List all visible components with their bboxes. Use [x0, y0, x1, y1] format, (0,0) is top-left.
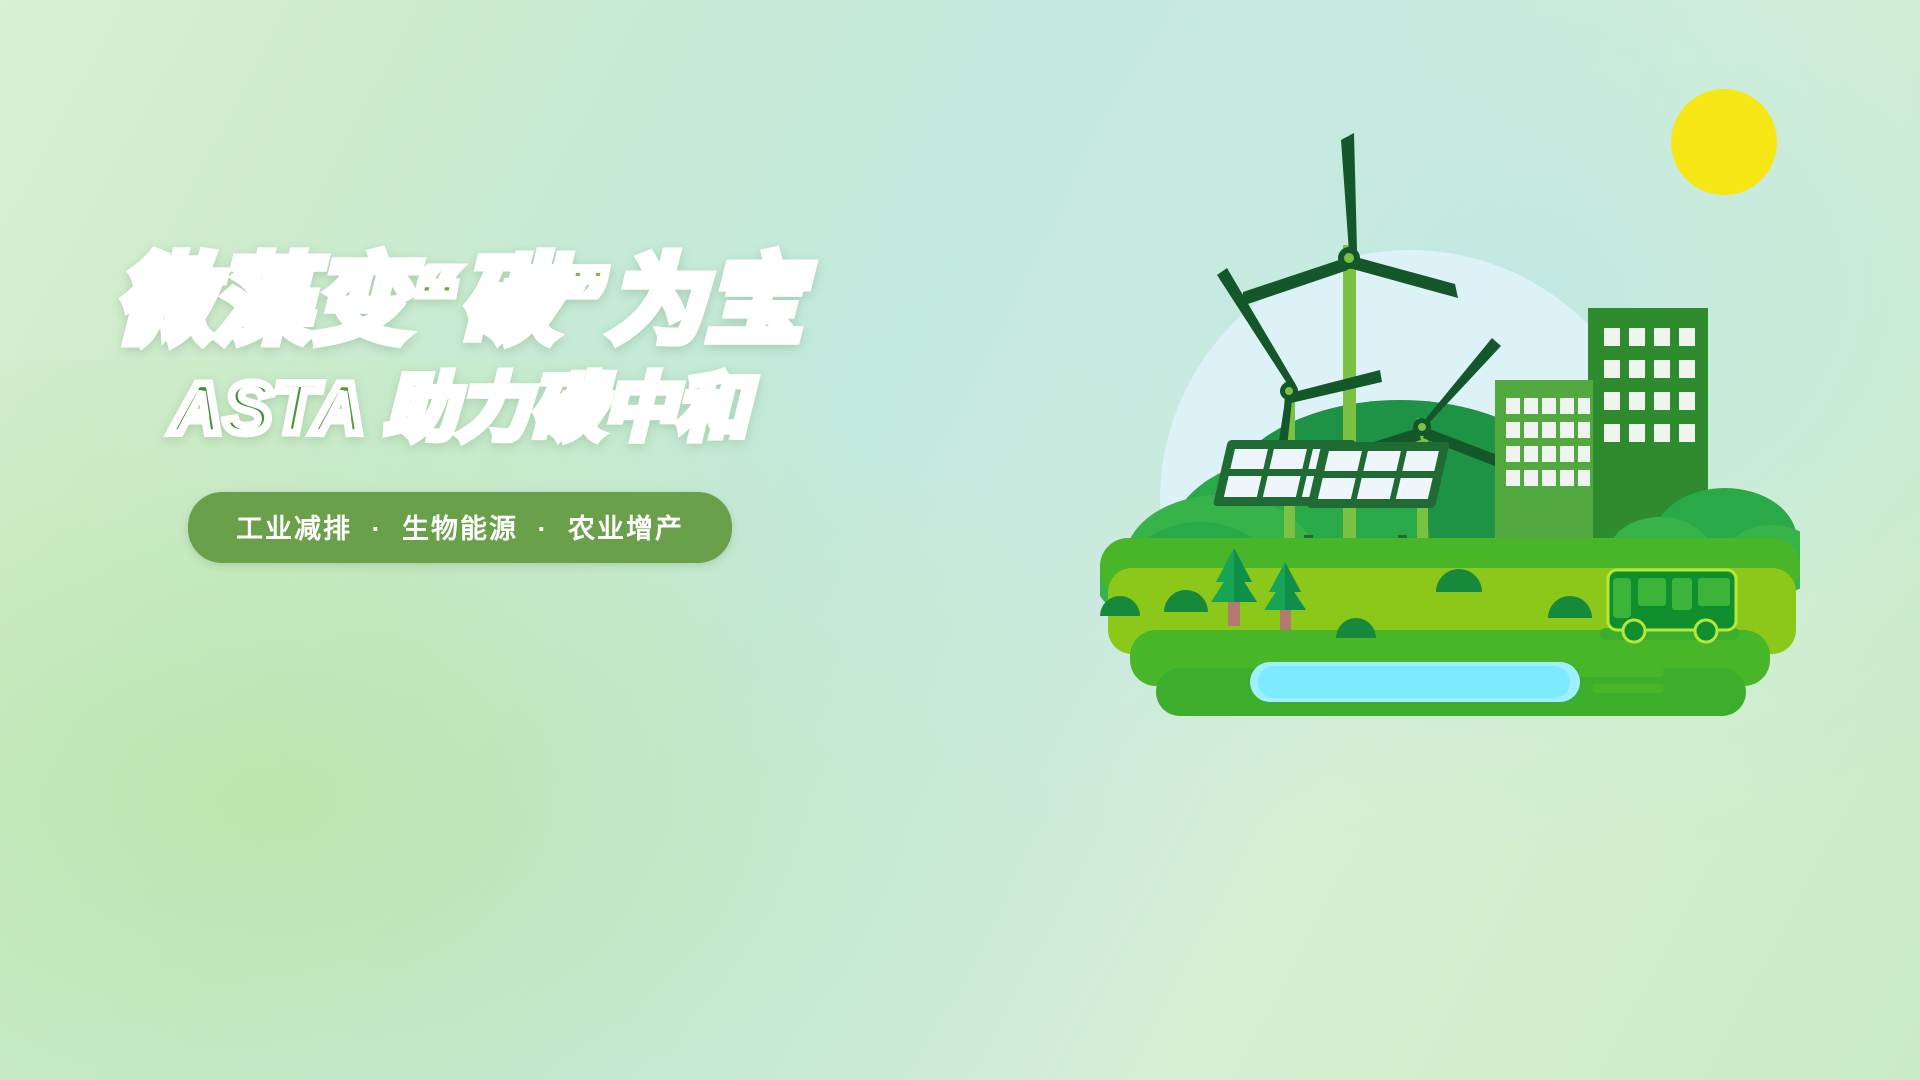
sun-icon	[1671, 89, 1777, 195]
tagline-separator-2: ·	[528, 514, 559, 544]
eco-banner: 微藻变“碳”为宝 ASTA 助力碳中和 工业减排 · 生物能源 · 农业增产	[0, 0, 1920, 1080]
bus-icon	[1600, 570, 1740, 642]
tagline-item-1: 工业减排	[236, 514, 352, 544]
tagline-item-3: 农业增产	[568, 514, 684, 544]
eco-city-illustration	[1100, 70, 1800, 750]
page-title: 微藻变“碳”为宝	[0, 250, 920, 354]
tagline-item-2: 生物能源	[402, 514, 518, 544]
tagline-pill: 工业减排 · 生物能源 · 农业增产	[188, 492, 732, 563]
page-subtitle: ASTA 助力碳中和	[0, 368, 920, 451]
tagline-separator-1: ·	[361, 514, 392, 544]
headline-block: 微藻变“碳”为宝 ASTA 助力碳中和 工业减排 · 生物能源 · 农业增产	[0, 250, 920, 563]
building-short	[1495, 380, 1593, 560]
